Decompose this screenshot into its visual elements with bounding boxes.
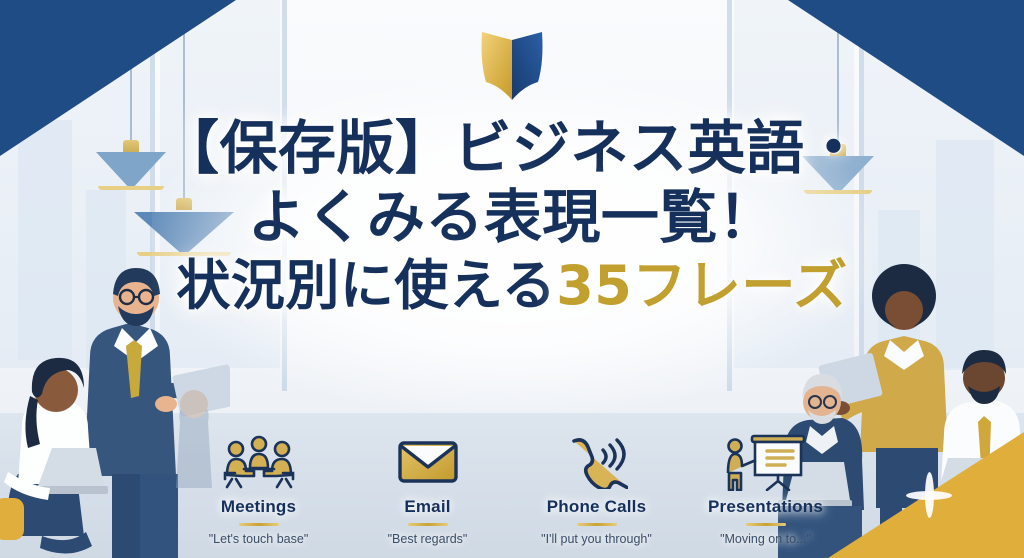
envelope-icon: [369, 431, 486, 493]
category-phone-calls: Phone Calls "I'll put you through": [538, 431, 655, 546]
headline-line-1: 【保存版】ビジネス英語・: [0, 118, 1024, 179]
category-label: Phone Calls: [538, 497, 655, 517]
headline-block: 【保存版】ビジネス英語・ よくみる表現一覧！ 状況別に使える35フレーズ: [0, 118, 1024, 314]
category-quote: "Best regards": [369, 532, 486, 546]
category-row: Meetings "Let's touch base" Email "Best …: [0, 431, 1024, 546]
category-label: Email: [369, 497, 486, 517]
banner-image: 【保存版】ビジネス英語・ よくみる表現一覧！ 状況別に使える35フレーズ: [0, 0, 1024, 558]
category-meetings: Meetings "Let's touch base": [200, 431, 317, 546]
headline-line-2: よくみる表現一覧！: [0, 187, 1024, 248]
phone-ringing-icon: [538, 431, 655, 493]
headline-line-3-main: 状況別に使える: [176, 254, 556, 317]
open-book-icon: [468, 28, 556, 102]
presentation-icon: [707, 431, 824, 493]
category-underline: [577, 523, 617, 526]
headline-phrase-count: 35フレーズ: [556, 254, 847, 317]
category-label: Presentations: [707, 497, 824, 517]
headline-line-3: 状況別に使える35フレーズ: [0, 257, 1024, 314]
category-underline: [746, 523, 786, 526]
category-quote: "Let's touch base": [200, 532, 317, 546]
category-quote: "Moving on to...": [707, 532, 824, 546]
category-underline: [408, 523, 448, 526]
category-quote: "I'll put you through": [538, 532, 655, 546]
meeting-table-icon: [200, 431, 317, 493]
category-email: Email "Best regards": [369, 431, 486, 546]
category-label: Meetings: [200, 497, 317, 517]
category-presentations: Presentations "Moving on to...": [707, 431, 824, 546]
category-underline: [239, 523, 279, 526]
